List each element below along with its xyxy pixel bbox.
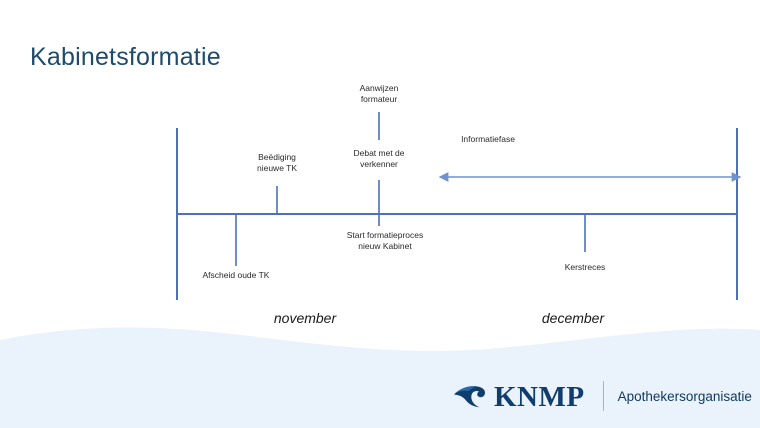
event-label-kerstreces: Kerstreces [525,262,645,273]
event-label-aanwijzen-formateur: Aanwijzen formateur [324,83,434,105]
event-label-beediging-nieuwe-tk: Beëdiging nieuwe TK [227,152,327,174]
knmp-snake-bowl-logo-icon [452,379,492,413]
page-title: Kabinetsformatie [30,43,221,72]
event-label-afscheid-oude-tk: Afscheid oude TK [166,270,306,281]
event-label-debat-met-de-verkenner: Debat met de verkenner [324,148,434,170]
knmp-logo-lockup: KNMP Apothekersorganisatie [452,374,752,418]
logo-divider [603,381,604,411]
phase-label-informatiefase: Informatiefase [461,134,515,145]
knmp-tagline: Apothekersorganisatie [618,390,752,404]
month-label-december: december [542,310,604,326]
slide-canvas: Kabinetsformatie Aanwijzen formateur [0,0,760,428]
event-label-start-formatieproces: Start formatieproces nieuw Kabinet [315,230,455,252]
knmp-wordmark: KNMP [494,383,585,412]
month-label-november: november [274,310,336,326]
